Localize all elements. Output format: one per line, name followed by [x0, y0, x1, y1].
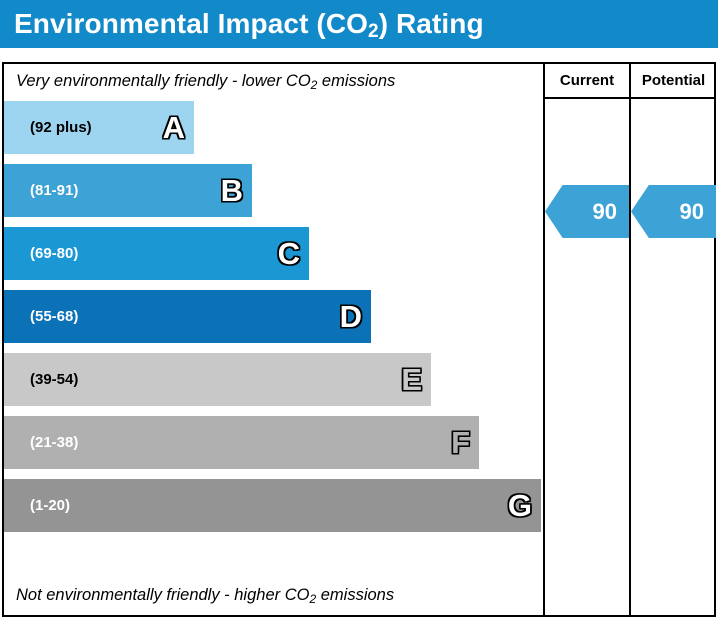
- caption-bottom-prefix: Not environmentally friendly - higher CO: [16, 586, 309, 604]
- rating-band-e-letter: E: [401, 364, 431, 395]
- potential-rating-value: 90: [680, 199, 704, 225]
- rating-band-e: (39-54) E: [4, 353, 431, 406]
- rating-band-b-range: (81-91): [4, 182, 78, 199]
- rating-band-e-range: (39-54): [4, 371, 78, 388]
- rating-band-d-range: (55-68): [4, 308, 78, 325]
- caption-top-suffix: emissions: [317, 72, 395, 90]
- caption-top-subscript: 2: [311, 78, 318, 92]
- column-divider-potential: [629, 64, 631, 615]
- current-rating-value: 90: [593, 199, 617, 225]
- rating-band-c-range: (69-80): [4, 245, 78, 262]
- rating-band-b: (81-91) B: [4, 164, 252, 217]
- rating-band-d-letter: D: [340, 301, 371, 332]
- rating-band-c-letter: C: [278, 238, 309, 269]
- rating-band-d: (55-68) D: [4, 290, 371, 343]
- caption-top: Very environmentally friendly - lower CO…: [16, 72, 395, 91]
- header-divider: [543, 97, 714, 99]
- column-header-potential: Potential: [631, 64, 716, 97]
- page-title-prefix: Environmental Impact (CO: [14, 8, 368, 39]
- rating-band-f-letter: F: [451, 427, 479, 458]
- rating-band-f-range: (21-38): [4, 434, 78, 451]
- rating-table: Current Potential Very environmentally f…: [2, 62, 716, 617]
- chart-title-bar: Environmental Impact (CO2) Rating: [0, 0, 718, 48]
- rating-band-g: (1-20) G: [4, 479, 541, 532]
- rating-band-f: (21-38) F: [4, 416, 479, 469]
- current-rating-marker: 90: [545, 185, 629, 238]
- rating-band-c: (69-80) C: [4, 227, 309, 280]
- column-header-current: Current: [545, 64, 629, 97]
- column-divider-current: [543, 64, 545, 615]
- rating-band-b-letter: B: [221, 175, 252, 206]
- caption-bottom-suffix: emissions: [316, 586, 394, 604]
- rating-band-a-letter: A: [163, 112, 194, 143]
- rating-bands: Very environmentally friendly - lower CO…: [4, 64, 541, 615]
- rating-band-g-letter: G: [508, 490, 541, 521]
- potential-rating-marker: 90: [631, 185, 716, 238]
- page-title: Environmental Impact (CO2) Rating: [0, 8, 484, 40]
- rating-band-g-range: (1-20): [4, 497, 70, 514]
- caption-bottom-subscript: 2: [309, 592, 316, 606]
- caption-top-prefix: Very environmentally friendly - lower CO: [16, 72, 311, 90]
- rating-band-a-range: (92 plus): [4, 119, 92, 136]
- rating-band-a: (92 plus) A: [4, 101, 194, 154]
- page-title-suffix: ) Rating: [379, 8, 484, 39]
- caption-bottom: Not environmentally friendly - higher CO…: [16, 586, 394, 605]
- page-title-subscript: 2: [368, 21, 379, 42]
- epc-environmental-impact-chart: Environmental Impact (CO2) Rating Curren…: [0, 0, 718, 619]
